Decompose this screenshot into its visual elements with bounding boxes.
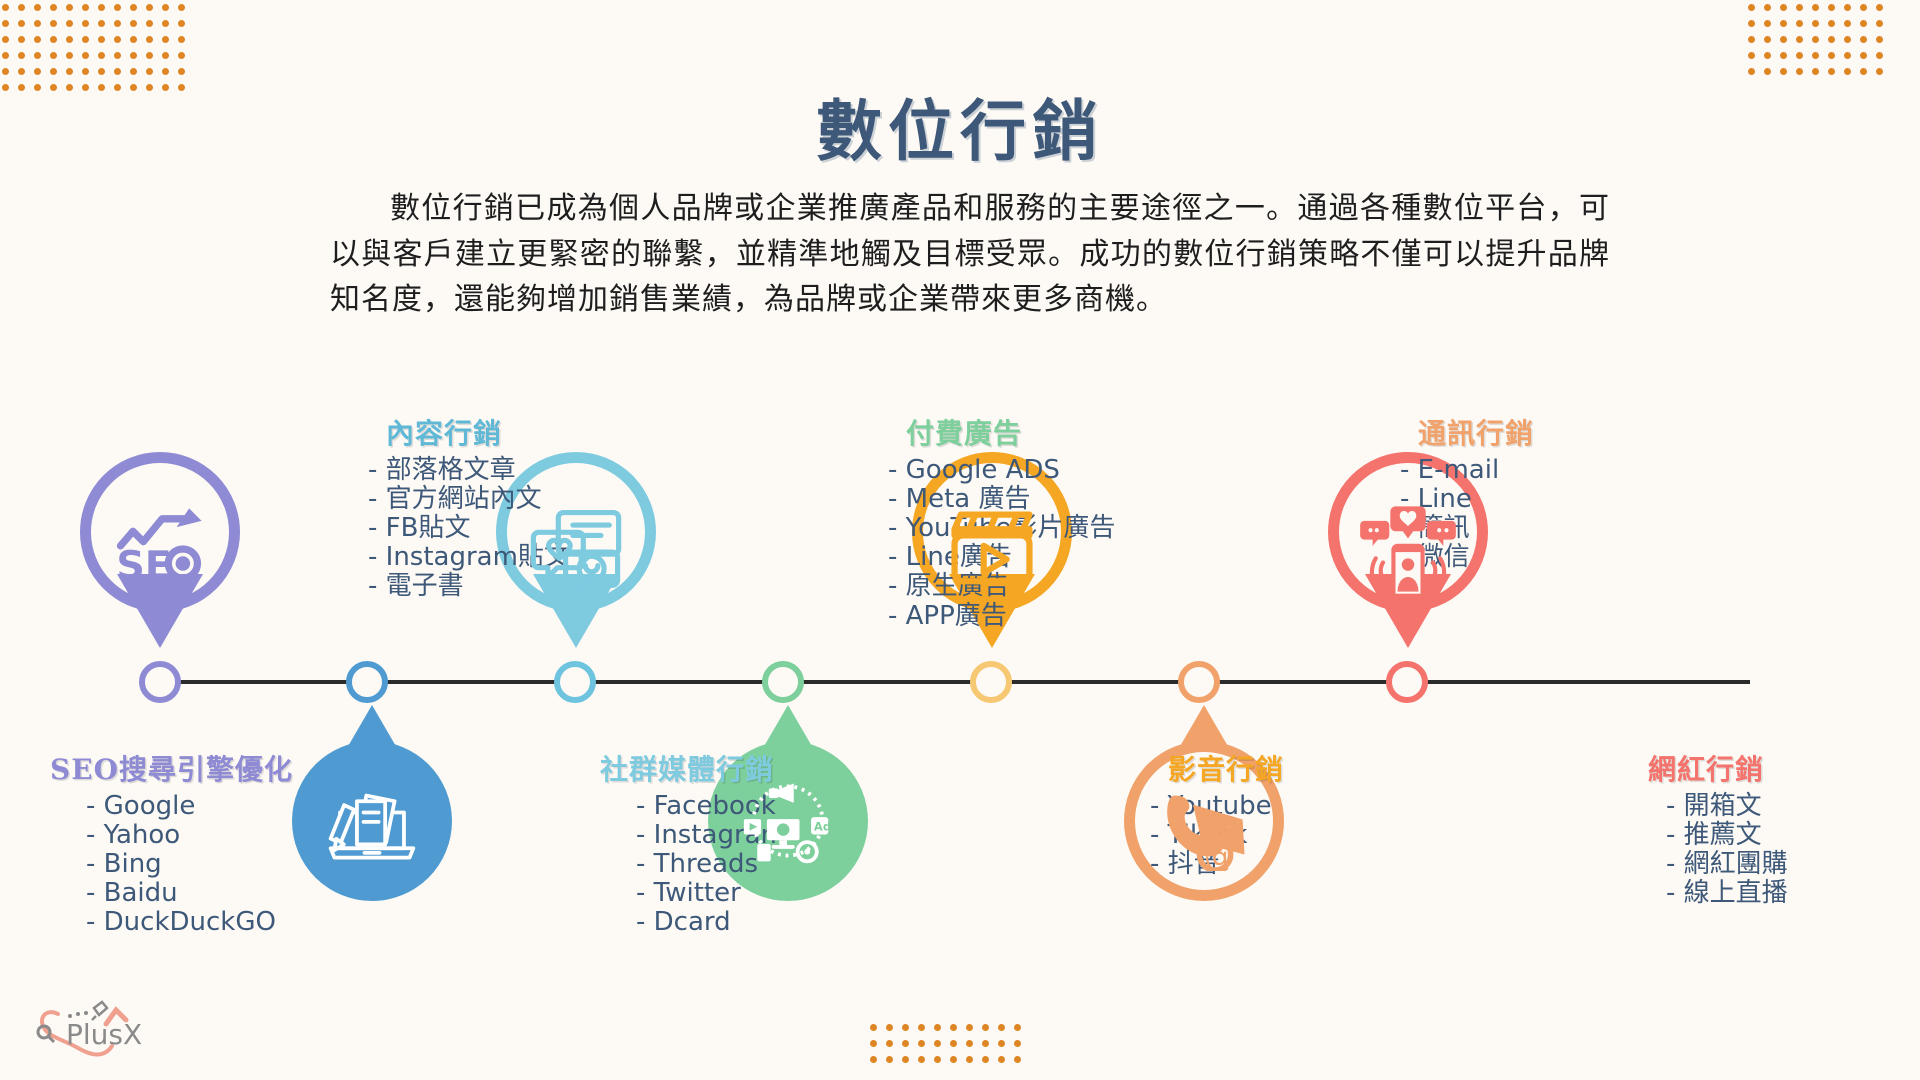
decorative-dot <box>114 4 121 11</box>
decorative-dot <box>146 52 153 59</box>
block-list: - Google- Yahoo- Bing- Baidu- DuckDuckGO <box>50 792 350 938</box>
ad-campaign-cycle-icon: Ad <box>740 773 836 869</box>
decorative-dot <box>934 1040 941 1047</box>
dot-row <box>870 1040 1030 1056</box>
decorative-dot <box>1860 4 1867 11</box>
decorative-dot <box>2 36 9 43</box>
list-item: - APP廣告 <box>888 602 1168 631</box>
seo-growth-magnifier-icon: SE <box>108 498 212 602</box>
decorative-dot <box>934 1056 941 1063</box>
decorative-dot <box>82 4 89 11</box>
decorative-dot <box>1844 4 1851 11</box>
decorative-dot <box>1014 1040 1021 1047</box>
timeline-axis <box>160 680 1750 684</box>
decorative-dot <box>998 1056 1005 1063</box>
decorative-dot <box>1748 52 1755 59</box>
decorative-dot <box>1860 68 1867 75</box>
decorative-dot <box>1812 68 1819 75</box>
decorative-dot <box>1780 4 1787 11</box>
dot-row <box>1748 52 1892 68</box>
decorative-dot <box>1764 20 1771 27</box>
decorative-dot <box>50 36 57 43</box>
decorative-dot <box>1860 52 1867 59</box>
decorative-dot <box>114 20 121 27</box>
decorative-dot <box>998 1024 1005 1031</box>
decorative-dot <box>1748 4 1755 11</box>
decorative-dot <box>114 52 121 59</box>
decorative-dot <box>966 1024 973 1031</box>
decorative-dot <box>178 68 185 75</box>
decorative-dot <box>98 20 105 27</box>
clapperboard-play-icon <box>940 498 1044 602</box>
list-item: - Google <box>86 792 350 821</box>
phone-envelope-at-icon: @ <box>1158 779 1250 871</box>
decorative-dot <box>98 36 105 43</box>
block-heading: 網紅行銷 <box>1630 748 1900 788</box>
laptop-documents-pencil-icon <box>325 773 419 867</box>
decorative-dot <box>1796 20 1803 27</box>
dot-row <box>870 1056 1030 1072</box>
decorative-dot <box>18 68 25 75</box>
decorative-dot <box>950 1056 957 1063</box>
list-item: - Google ADS <box>888 456 1168 485</box>
decorative-dot <box>18 52 25 59</box>
decorative-dot <box>18 4 25 11</box>
decorative-dot <box>1748 20 1755 27</box>
decorative-dot <box>1764 36 1771 43</box>
dot-row <box>1748 36 1892 52</box>
decorative-dot <box>1748 68 1755 75</box>
timeline-node-communication[interactable] <box>1178 661 1220 703</box>
list-item: - Dcard <box>636 908 890 937</box>
decorative-dot <box>2 4 9 11</box>
decorative-dot <box>1796 68 1803 75</box>
decorative-dot <box>1844 36 1851 43</box>
decorative-dot <box>1764 4 1771 11</box>
decorative-dot <box>902 1056 909 1063</box>
decorative-dot <box>918 1040 925 1047</box>
intro-paragraph: 數位行銷已成為個人品牌或企業推廣產品和服務的主要途徑之一。通過各種數位平台，可以… <box>330 186 1610 323</box>
decorative-dot <box>1748 36 1755 43</box>
decorative-dot <box>34 52 41 59</box>
decorative-dot <box>146 68 153 75</box>
list-item: - 開箱文 <box>1666 792 1900 821</box>
list-item: - E-mail <box>1400 456 1660 485</box>
decorative-dot <box>178 36 185 43</box>
decorative-dot <box>146 4 153 11</box>
decorative-dot <box>1876 52 1883 59</box>
phone-influencer-reactions-icon <box>1356 498 1460 602</box>
list-item: - 推薦文 <box>1666 821 1900 850</box>
decorative-dot <box>130 52 137 59</box>
decorative-dot <box>178 20 185 27</box>
chat-bubbles-icon <box>524 498 628 602</box>
decorative-dot <box>1876 36 1883 43</box>
infographic-canvas: 數位行銷 數位行銷已成為個人品牌或企業推廣產品和服務的主要途徑之一。通過各種數位… <box>0 0 1920 1080</box>
decorative-dot <box>34 20 41 27</box>
list-item: - Yahoo <box>86 821 350 850</box>
decorative-dot <box>130 68 137 75</box>
decorative-dot <box>18 20 25 27</box>
decorative-dot <box>34 4 41 11</box>
decorative-dot <box>982 1024 989 1031</box>
decorative-dot <box>50 4 57 11</box>
dot-row <box>1748 4 1892 20</box>
dot-row <box>2 36 194 52</box>
decorative-dot <box>1780 20 1787 27</box>
svg-text:@: @ <box>1204 838 1235 871</box>
decorative-dot <box>982 1056 989 1063</box>
list-item: - Baidu <box>86 879 350 908</box>
decorative-dot <box>162 52 169 59</box>
decorative-dot <box>1844 68 1851 75</box>
decorative-dot <box>1812 4 1819 11</box>
decorative-dot <box>1876 4 1883 11</box>
decorative-dot <box>1812 20 1819 27</box>
pin-seo[interactable]: SE <box>80 452 240 648</box>
decorative-dot <box>1860 20 1867 27</box>
decorative-dot <box>146 20 153 27</box>
decorative-dot <box>130 4 137 11</box>
decorative-dot <box>50 68 57 75</box>
brand-name: PlusX <box>66 1018 142 1051</box>
decorative-dot <box>146 36 153 43</box>
dot-row <box>2 52 194 68</box>
decorative-dot <box>1796 36 1803 43</box>
decorative-dot <box>82 52 89 59</box>
decorative-dot <box>1876 68 1883 75</box>
timeline-node-seo[interactable] <box>139 661 181 703</box>
decorative-dot <box>82 68 89 75</box>
decorative-dot <box>66 52 73 59</box>
block-heading: 通訊行銷 <box>1400 412 1660 452</box>
decorative-dot <box>50 20 57 27</box>
decorative-dot <box>1780 68 1787 75</box>
decorative-dot <box>98 52 105 59</box>
decorative-dot <box>1764 68 1771 75</box>
decorative-dot <box>2 20 9 27</box>
decorative-dot <box>1796 4 1803 11</box>
decorative-dot <box>66 68 73 75</box>
list-item: - 線上直播 <box>1666 879 1900 908</box>
decorative-dot <box>918 1024 925 1031</box>
decorative-dot <box>2 68 9 75</box>
decorative-dot <box>1014 1056 1021 1063</box>
decorative-dot <box>1860 36 1867 43</box>
block-seo: SEO搜尋引擎優化 - Google- Yahoo- Bing- Baidu- … <box>50 748 350 938</box>
list-item: - Bing <box>86 850 350 879</box>
timeline-node-influencer[interactable] <box>1386 661 1428 703</box>
decorative-dot <box>98 4 105 11</box>
decorative-dot <box>1014 1024 1021 1031</box>
decorative-dot <box>1780 52 1787 59</box>
decorative-dot <box>966 1056 973 1063</box>
decorative-dot <box>1828 52 1835 59</box>
decorative-dot <box>82 20 89 27</box>
block-heading: 付費廣告 <box>888 412 1168 452</box>
decorative-dot <box>870 1024 877 1031</box>
decorative-dot <box>66 20 73 27</box>
decorative-dot <box>50 52 57 59</box>
decorative-dot <box>870 1056 877 1063</box>
decorative-dot <box>2 52 9 59</box>
decorative-dot <box>162 4 169 11</box>
decorative-dot <box>162 68 169 75</box>
svg-text:Ad: Ad <box>814 820 831 834</box>
list-item: - 部落格文章 <box>368 456 638 485</box>
list-item: - DuckDuckGO <box>86 908 350 937</box>
decorative-dot <box>918 1056 925 1063</box>
decorative-dot <box>1828 36 1835 43</box>
decorative-dot <box>886 1056 893 1063</box>
decorative-dot <box>130 36 137 43</box>
decorative-dot <box>162 36 169 43</box>
dot-row <box>2 20 194 36</box>
decorative-dot <box>886 1024 893 1031</box>
decorative-dot <box>178 4 185 11</box>
decorative-dot <box>34 68 41 75</box>
decorative-dot <box>34 36 41 43</box>
decorative-dot <box>18 36 25 43</box>
decorative-dot <box>966 1040 973 1047</box>
decorative-dot <box>1796 52 1803 59</box>
block-list: - 開箱文- 推薦文- 網紅團購- 線上直播 <box>1630 792 1900 908</box>
decorative-dot <box>982 1040 989 1047</box>
decorative-dot <box>162 20 169 27</box>
decorative-dot <box>98 68 105 75</box>
dot-row <box>1748 20 1892 36</box>
decorative-dot <box>1828 4 1835 11</box>
decorative-dot <box>82 36 89 43</box>
decorative-dot <box>1844 52 1851 59</box>
decorative-dot <box>1780 36 1787 43</box>
decorative-dot <box>950 1040 957 1047</box>
decorative-dot <box>178 52 185 59</box>
svg-text:SE: SE <box>116 543 171 589</box>
decorative-dot-grid-top-right <box>1748 4 1892 84</box>
decorative-dot <box>870 1040 877 1047</box>
decorative-dot <box>1844 20 1851 27</box>
block-heading: SEO搜尋引擎優化 <box>50 748 350 788</box>
list-item: - 網紅團購 <box>1666 850 1900 879</box>
brand-logo[interactable]: PlusX <box>18 990 168 1070</box>
dot-row <box>2 4 194 20</box>
decorative-dot <box>1828 20 1835 27</box>
timeline-node-video[interactable] <box>970 661 1012 703</box>
timeline-node-content-marketing[interactable] <box>554 661 596 703</box>
decorative-dot <box>902 1024 909 1031</box>
decorative-dot <box>66 36 73 43</box>
block-heading: 內容行銷 <box>368 412 638 452</box>
timeline-node-content-writing[interactable] <box>346 661 388 703</box>
decorative-dot <box>1828 68 1835 75</box>
list-item: - Twitter <box>636 879 890 908</box>
block-influencer: 網紅行銷 - 開箱文- 推薦文- 網紅團購- 線上直播 <box>1630 748 1900 908</box>
decorative-dot <box>1764 52 1771 59</box>
decorative-dot <box>902 1040 909 1047</box>
decorative-dot <box>950 1024 957 1031</box>
decorative-dot-grid-bottom-center <box>870 1024 1030 1072</box>
decorative-dot <box>1812 52 1819 59</box>
decorative-dot <box>114 68 121 75</box>
decorative-dot <box>130 20 137 27</box>
decorative-dot <box>114 36 121 43</box>
decorative-dot <box>1876 20 1883 27</box>
decorative-dot <box>998 1040 1005 1047</box>
decorative-dot <box>1812 36 1819 43</box>
decorative-dot <box>66 4 73 11</box>
timeline-node-paid-ads[interactable] <box>762 661 804 703</box>
dot-row <box>870 1024 1030 1040</box>
page-title: 數位行銷 <box>0 78 1920 174</box>
decorative-dot <box>886 1040 893 1047</box>
decorative-dot <box>934 1024 941 1031</box>
